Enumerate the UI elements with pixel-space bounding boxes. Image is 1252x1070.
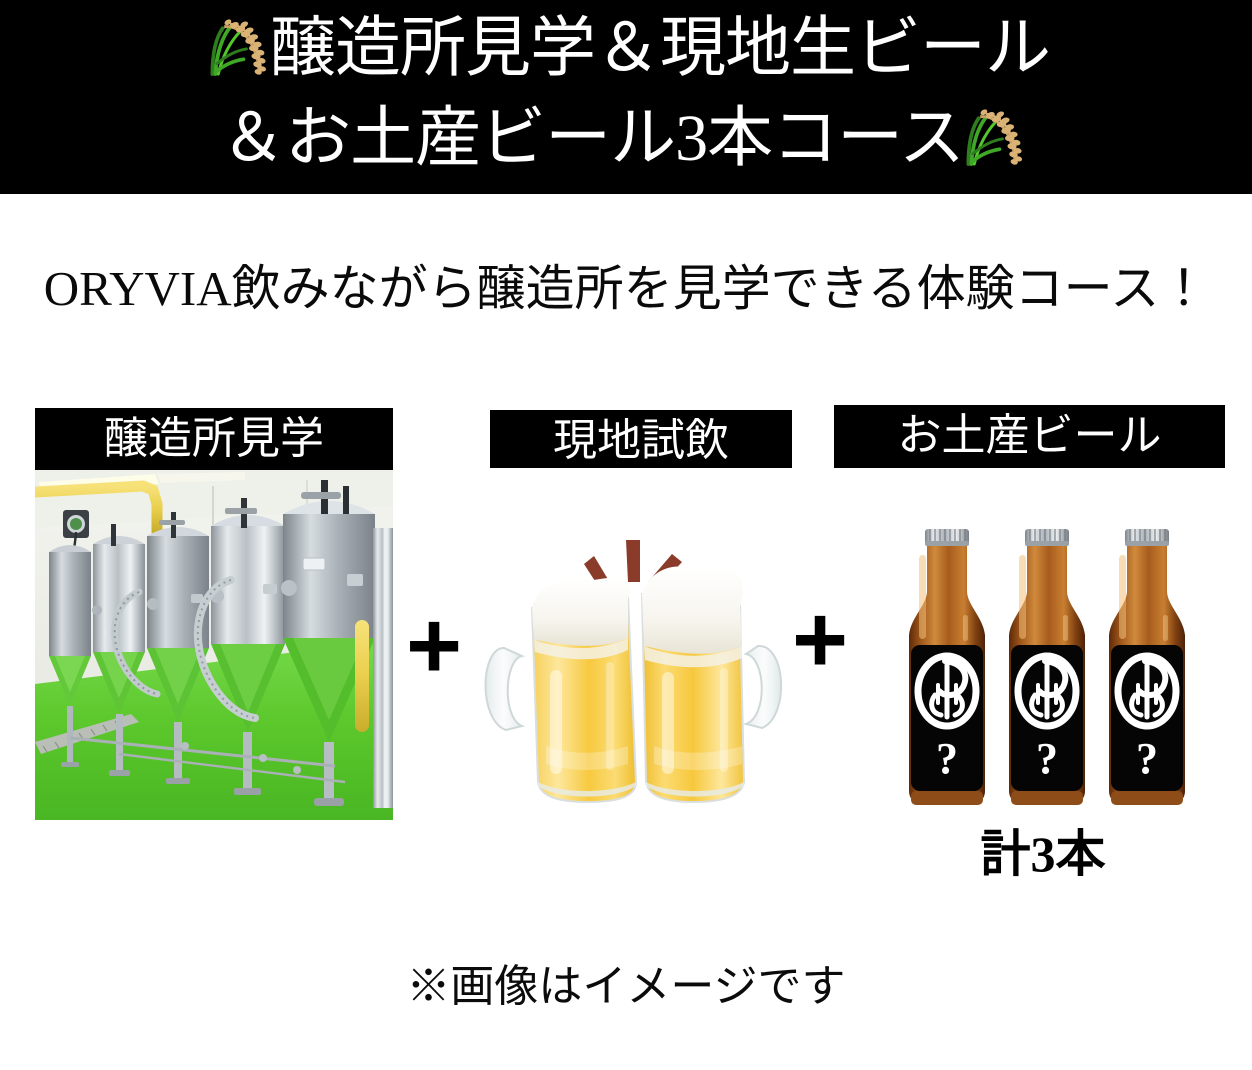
header-title-text-1: 醸造所見学＆現地生ビール [270,12,1050,85]
section-label-onsite-tasting: 現地試飲 [490,410,792,468]
svg-text:?: ? [1136,734,1158,783]
section-label-souvenir-beer: お土産ビール [834,405,1225,468]
course-contents-row: 醸造所見学 [0,400,1252,870]
bottle-count-text: 計3本 [893,825,1193,883]
header-title-line-2: ＆お土産ビール3本コース [0,96,1252,182]
rice-plant-icon [202,6,276,80]
plus-operator-2: + [792,592,848,688]
section-label-brewery-tour: 醸造所見学 [35,408,393,470]
brewery-photo [35,470,393,820]
beer-bottles-icon: ? [893,495,1193,825]
beer-mugs-icon [476,520,800,820]
header-banner: 醸造所見学＆現地生ビール ＆お土産ビール3本コース [0,0,1252,194]
image-disclaimer-note: ※画像はイメージです [0,958,1252,1016]
header-title-text-2: ＆お土産ビール3本コース [220,102,964,175]
svg-text:?: ? [1036,734,1058,783]
svg-text:?: ? [936,734,958,783]
rice-plant-icon [958,96,1032,170]
header-title-line-1: 醸造所見学＆現地生ビール [0,6,1252,92]
plus-operator-1: + [406,598,462,694]
subtitle: ORYVIA飲みながら醸造所を見学できる体験コース！ [0,256,1252,322]
